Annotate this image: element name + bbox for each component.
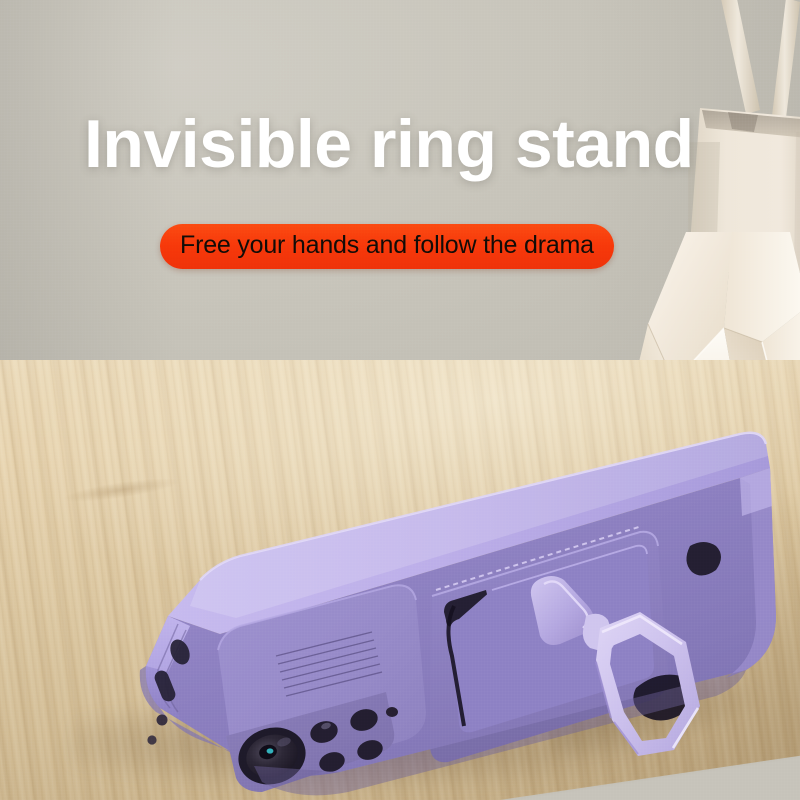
promo-image-canvas: Invisible ring stand Free your hands and… [0,0,800,800]
subtitle-text: Free your hands and follow the drama [180,232,594,259]
speaker-hole [157,715,168,726]
phone-case [40,420,780,800]
tote-strap-left [720,0,760,114]
camera-flash-cutout [386,707,398,717]
speaker-hole [147,735,156,744]
lens-glint [267,748,274,753]
page-title: Invisible ring stand [84,110,774,178]
tote-strap-right [772,0,800,118]
subtitle-badge: Free your hands and follow the drama [160,224,614,269]
